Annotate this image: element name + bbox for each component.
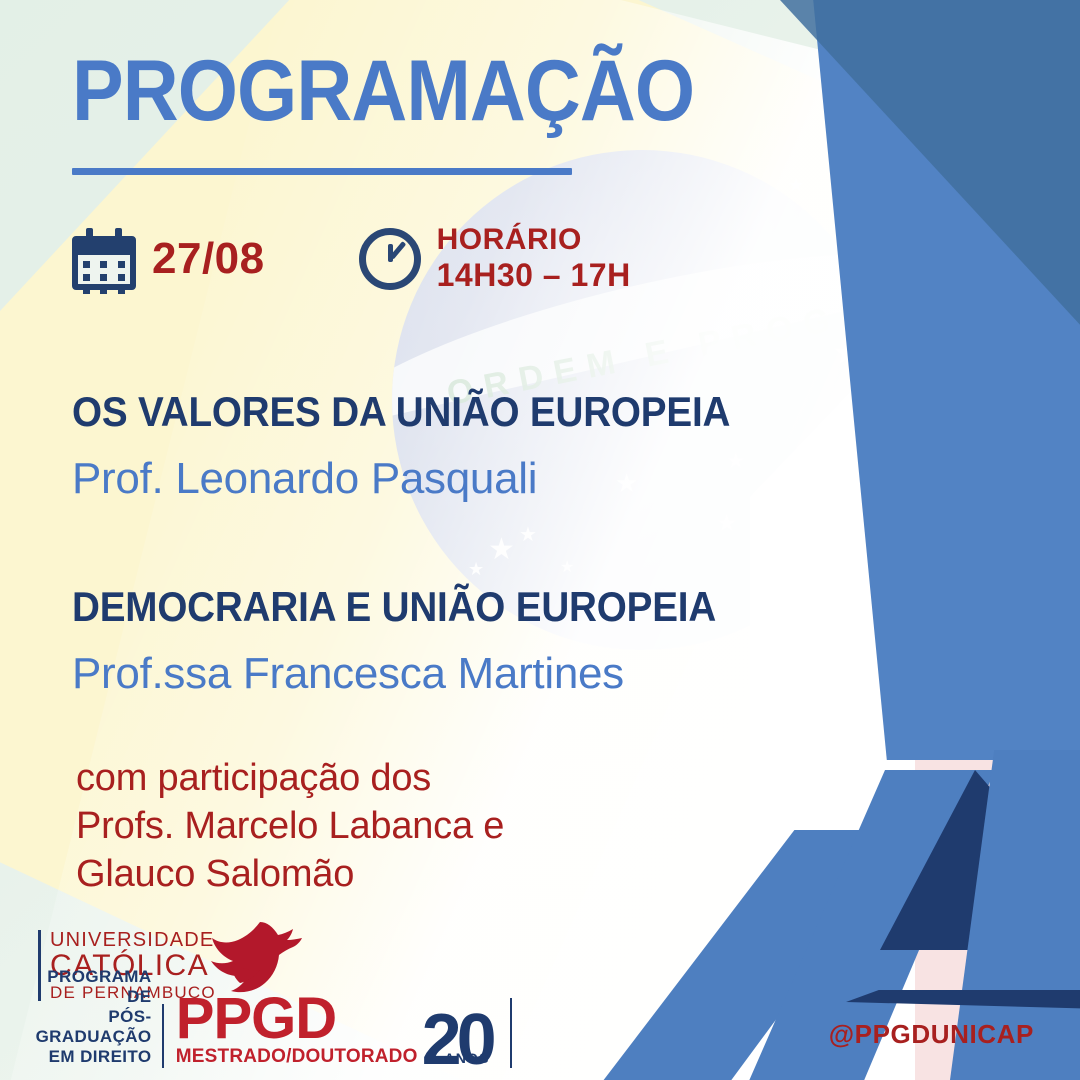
calendar-icon: [72, 228, 136, 290]
event-meta-row: 27/08 HORÁRIO 14H30 – 17H: [72, 222, 631, 295]
time-value: 14H30 – 17H: [437, 257, 631, 295]
program-line-3: EM DIREITO: [34, 1047, 152, 1067]
date-group: 27/08: [72, 228, 265, 290]
program-wordmark: PROGRAMA DE PÓS-GRADUAÇÃO EM DIREITO: [34, 967, 152, 1070]
title-divider: [72, 168, 572, 175]
talk-speaker: Prof.ssa Francesca Martines: [72, 649, 772, 699]
anniversary-badge: 20 ANOS: [422, 1012, 492, 1070]
anniversary-label: ANOS: [444, 1050, 489, 1066]
ppgd-divider: [162, 1004, 164, 1068]
unicap-line-1: UNIVERSIDADE: [50, 930, 216, 950]
participation-note: com participação dos Profs. Marcelo Laba…: [76, 755, 504, 899]
program-line-1: PROGRAMA DE: [34, 967, 152, 1007]
institutional-logo: UNIVERSIDADE CATÓLICA DE PERNAMBUCO PROG…: [34, 922, 454, 1072]
ppgd-acronym: PPGD: [176, 995, 418, 1043]
ppgd-degrees: MESTRADO/DOUTORADO: [176, 1046, 418, 1068]
clock-icon: [359, 228, 421, 290]
talk-title: DEMOCRARIA E UNIÃO EUROPEIA: [72, 583, 716, 631]
page-title: PROGRAMAÇÃO: [72, 48, 694, 134]
program-line-2: PÓS-GRADUAÇÃO: [34, 1007, 152, 1047]
talk-speaker: Prof. Leonardo Pasquali: [72, 454, 787, 504]
time-group: HORÁRIO 14H30 – 17H: [359, 222, 631, 295]
poster-content: PROGRAMAÇÃO 27/08 HOR: [0, 0, 1080, 1080]
participation-line: Profs. Marcelo Labanca e: [76, 803, 504, 851]
talk-item: DEMOCRARIA E UNIÃO EUROPEIA Prof.ssa Fra…: [72, 583, 772, 699]
ppgd-wordmark: PPGD MESTRADO/DOUTORADO: [176, 995, 418, 1070]
ppgd-trailing-divider: [510, 998, 512, 1068]
participation-line: com participação dos: [76, 755, 504, 803]
social-handle[interactable]: @PPGDUNICAP: [829, 1019, 1034, 1050]
time-label: HORÁRIO: [437, 222, 631, 257]
talk-title: OS VALORES DA UNIÃO EUROPEIA: [72, 388, 730, 436]
event-time: HORÁRIO 14H30 – 17H: [437, 222, 631, 295]
event-date: 27/08: [152, 234, 265, 284]
talk-item: OS VALORES DA UNIÃO EUROPEIA Prof. Leona…: [72, 388, 787, 504]
ppgd-lockup: PROGRAMA DE PÓS-GRADUAÇÃO EM DIREITO PPG…: [34, 967, 512, 1070]
poster-canvas: ORDEM E PROGRESSO ★ ★ ★ ★ ★ ★ ★ ★ ★ ★ PR…: [0, 0, 1080, 1080]
participation-line: Glauco Salomão: [76, 851, 504, 899]
